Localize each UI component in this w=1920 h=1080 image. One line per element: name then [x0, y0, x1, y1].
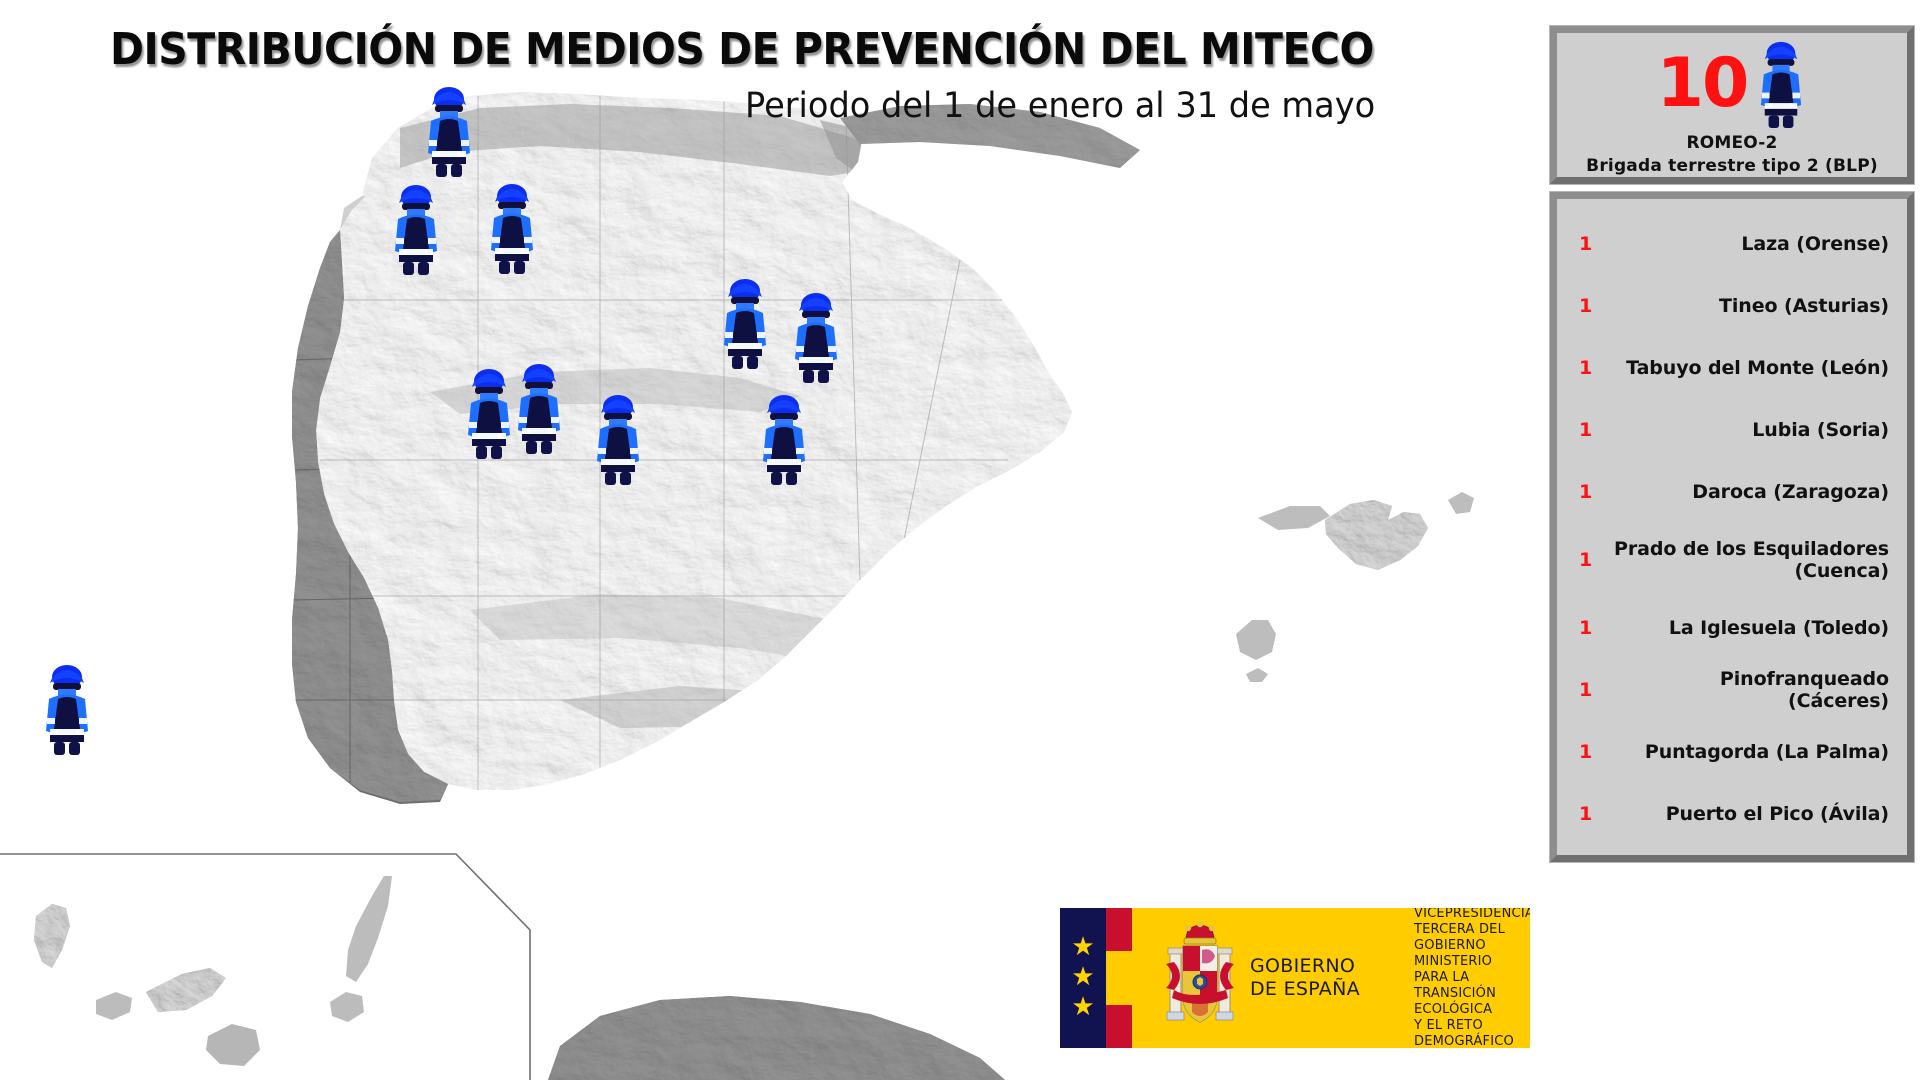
row-location: Prado de los Esquiladores (Cuenca): [1613, 538, 1889, 582]
list-item[interactable]: 1 La Iglesuela (Toledo): [1567, 597, 1897, 659]
ministerio-line-1: MINISTERIO: [1414, 954, 1530, 970]
row-count: 1: [1579, 617, 1613, 639]
flag-strip-icon: ★ ★ ★: [1060, 908, 1150, 1048]
gobierno-line-1: GOBIERNO: [1250, 955, 1400, 978]
row-location: Tabuyo del Monte (León): [1613, 357, 1889, 379]
poster-canvas: DISTRIBUCIÓN DE MEDIOS DE PREVENCIÓN DEL…: [0, 0, 1920, 1080]
list-item[interactable]: 1 Puntagorda (La Palma): [1567, 721, 1897, 783]
ministerio-line-3: Y EL RETO DEMOGRÁFICO: [1414, 1018, 1530, 1048]
map-marker-lubia[interactable]: [718, 277, 772, 369]
balearic-islands: [1236, 492, 1474, 682]
row-location: Lubia (Soria): [1613, 419, 1889, 441]
row-location: Pinofranqueado (Cáceres): [1613, 668, 1889, 712]
map-marker-prado-de-los-esquiladores[interactable]: [757, 393, 811, 485]
page-title: DISTRIBUCIÓN DE MEDIOS DE PREVENCIÓN DEL…: [110, 24, 1431, 75]
vicepresidencia-line-1: VICEPRESIDENCIA: [1414, 908, 1530, 922]
row-location: Laza (Orense): [1613, 233, 1889, 255]
north-africa-landmass: [548, 996, 1005, 1080]
coat-of-arms-icon: [1150, 908, 1250, 1048]
unit-summary-row: 10: [1557, 39, 1907, 129]
row-count: 1: [1579, 233, 1613, 255]
list-item[interactable]: 1 Tabuyo del Monte (León): [1567, 337, 1897, 399]
row-location: Tineo (Asturias): [1613, 295, 1889, 317]
unit-name: ROMEO-2: [1557, 133, 1907, 153]
row-location: Daroca (Zaragoza): [1613, 481, 1889, 503]
map-marker-puntagorda[interactable]: [40, 663, 94, 755]
canary-islands: [34, 876, 392, 1066]
row-count: 1: [1579, 481, 1613, 503]
vicepresidencia-line-2: TERCERA DEL GOBIERNO: [1414, 922, 1530, 954]
ministerio-line-2: PARA LA TRANSICIÓN ECOLÓGICA: [1414, 970, 1530, 1018]
row-count: 1: [1579, 549, 1613, 571]
unit-description: Brigada terrestre tipo 2 (BLP): [1557, 156, 1907, 176]
map-marker-la-iglesuela[interactable]: [591, 393, 645, 485]
gobierno-text: GOBIERNO DE ESPAÑA: [1250, 908, 1400, 1048]
page-subtitle: Periodo del 1 de enero al 31 de mayo: [745, 86, 1375, 126]
row-count: 1: [1579, 741, 1613, 763]
list-item[interactable]: 1 Daroca (Zaragoza): [1567, 461, 1897, 523]
gobierno-line-2: DE ESPAÑA: [1250, 978, 1400, 1001]
location-list: 1 Laza (Orense) 1 Tineo (Asturias) 1 Tab…: [1550, 192, 1914, 862]
list-item[interactable]: 1 Puerto el Pico (Ávila): [1567, 783, 1897, 845]
legend-panel: 10: [1550, 26, 1914, 862]
unit-total-count: 10: [1657, 50, 1748, 118]
list-item[interactable]: 1 Pinofranqueado (Cáceres): [1567, 659, 1897, 721]
row-count: 1: [1579, 357, 1613, 379]
list-item[interactable]: 1 Prado de los Esquiladores (Cuenca): [1567, 523, 1897, 597]
title-block: DISTRIBUCIÓN DE MEDIOS DE PREVENCIÓN DEL…: [0, 0, 1545, 150]
map-marker-daroca[interactable]: [789, 291, 843, 383]
list-item[interactable]: 1 Lubia (Soria): [1567, 399, 1897, 461]
row-location: La Iglesuela (Toledo): [1613, 617, 1889, 639]
list-item[interactable]: 1 Laza (Orense): [1567, 213, 1897, 275]
row-count: 1: [1579, 419, 1613, 441]
map-marker-laza[interactable]: [389, 183, 443, 275]
map-marker-puerto-el-pico[interactable]: [512, 362, 566, 454]
list-item[interactable]: 1 Tineo (Asturias): [1567, 275, 1897, 337]
map-marker-pinofranqueado[interactable]: [462, 367, 516, 459]
canary-inset-border: [0, 854, 530, 1080]
firefighter-icon: [1755, 40, 1807, 128]
row-location: Puerto el Pico (Ávila): [1613, 803, 1889, 825]
row-count: 1: [1579, 295, 1613, 317]
unit-summary-card: 10: [1550, 26, 1914, 184]
row-count: 1: [1579, 679, 1613, 701]
gobierno-de-espana-logo: ★ ★ ★: [1060, 908, 1530, 1048]
row-location: Puntagorda (La Palma): [1613, 741, 1889, 763]
map-marker-tabuyo-del-monte[interactable]: [485, 182, 539, 274]
row-count: 1: [1579, 803, 1613, 825]
ministerio-text: VICEPRESIDENCIA TERCERA DEL GOBIERNO MIN…: [1400, 908, 1530, 1048]
